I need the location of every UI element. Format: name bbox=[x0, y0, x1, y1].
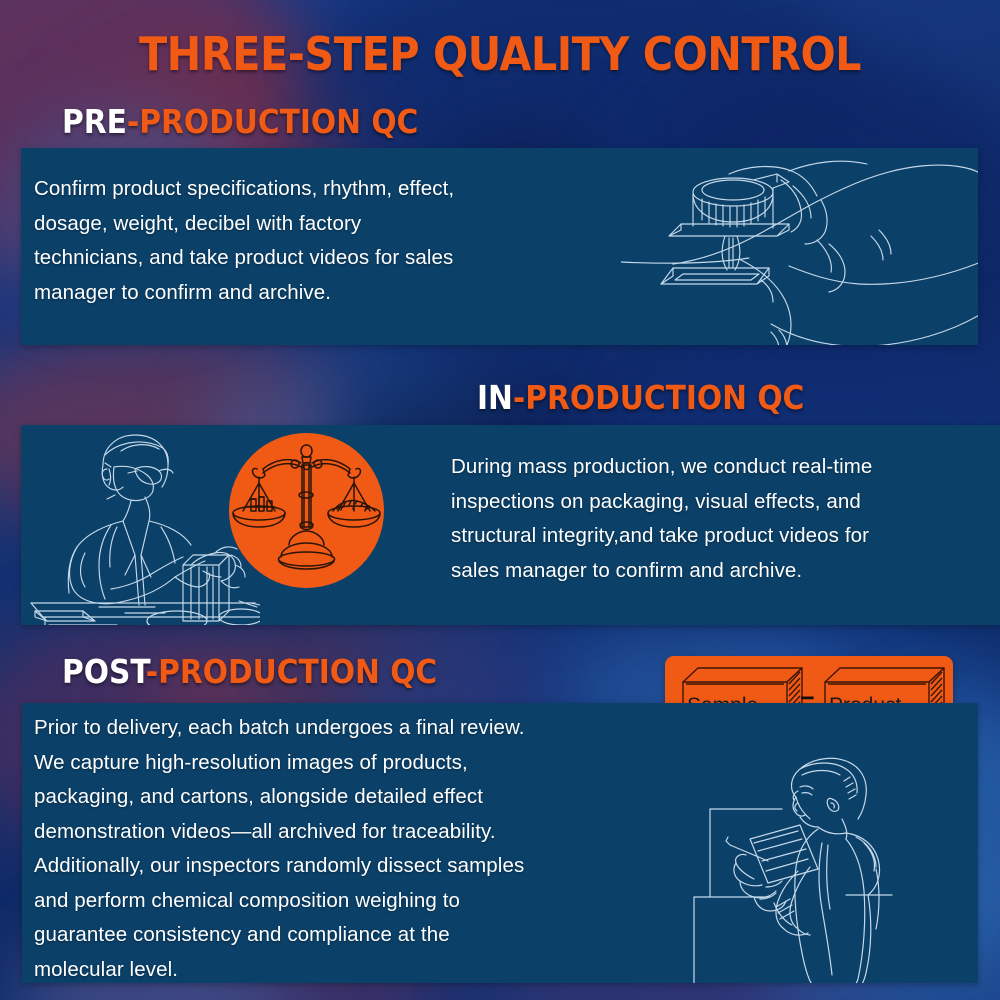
panel-post-production: Prior to delivery, each batch undergoes … bbox=[22, 703, 978, 983]
body-text-pre-production: Confirm product specifications, rhythm, … bbox=[34, 172, 594, 310]
heading-suffix: -PRODUCTION QC bbox=[146, 652, 437, 691]
inspector-with-clipboard-sketch bbox=[650, 747, 978, 983]
section-heading-post-production: POST-PRODUCTION QC bbox=[62, 652, 437, 691]
worker-inspecting-products-sketch bbox=[25, 425, 260, 625]
heading-prefix: PRE bbox=[62, 102, 127, 141]
body-text-post-production: Prior to delivery, each batch undergoes … bbox=[34, 711, 674, 983]
hand-holding-product-sketch bbox=[621, 148, 978, 345]
heading-suffix: -PRODUCTION QC bbox=[127, 102, 418, 141]
body-text-in-production: During mass production, we conduct real-… bbox=[451, 450, 1000, 588]
heading-prefix: IN bbox=[477, 378, 513, 417]
section-heading-in-production: IN-PRODUCTION QC bbox=[477, 378, 804, 417]
panel-in-production: During mass production, we conduct real-… bbox=[21, 425, 1000, 625]
section-heading-pre-production: PRE-PRODUCTION QC bbox=[62, 102, 418, 141]
panel-pre-production: Confirm product specifications, rhythm, … bbox=[21, 148, 978, 345]
heading-suffix: -PRODUCTION QC bbox=[513, 378, 804, 417]
balance-scale-icon bbox=[229, 433, 384, 588]
balance-scale-badge bbox=[229, 433, 384, 588]
heading-prefix: POST bbox=[62, 652, 146, 691]
page-title: THREE-STEP QUALITY CONTROL bbox=[0, 30, 1000, 78]
